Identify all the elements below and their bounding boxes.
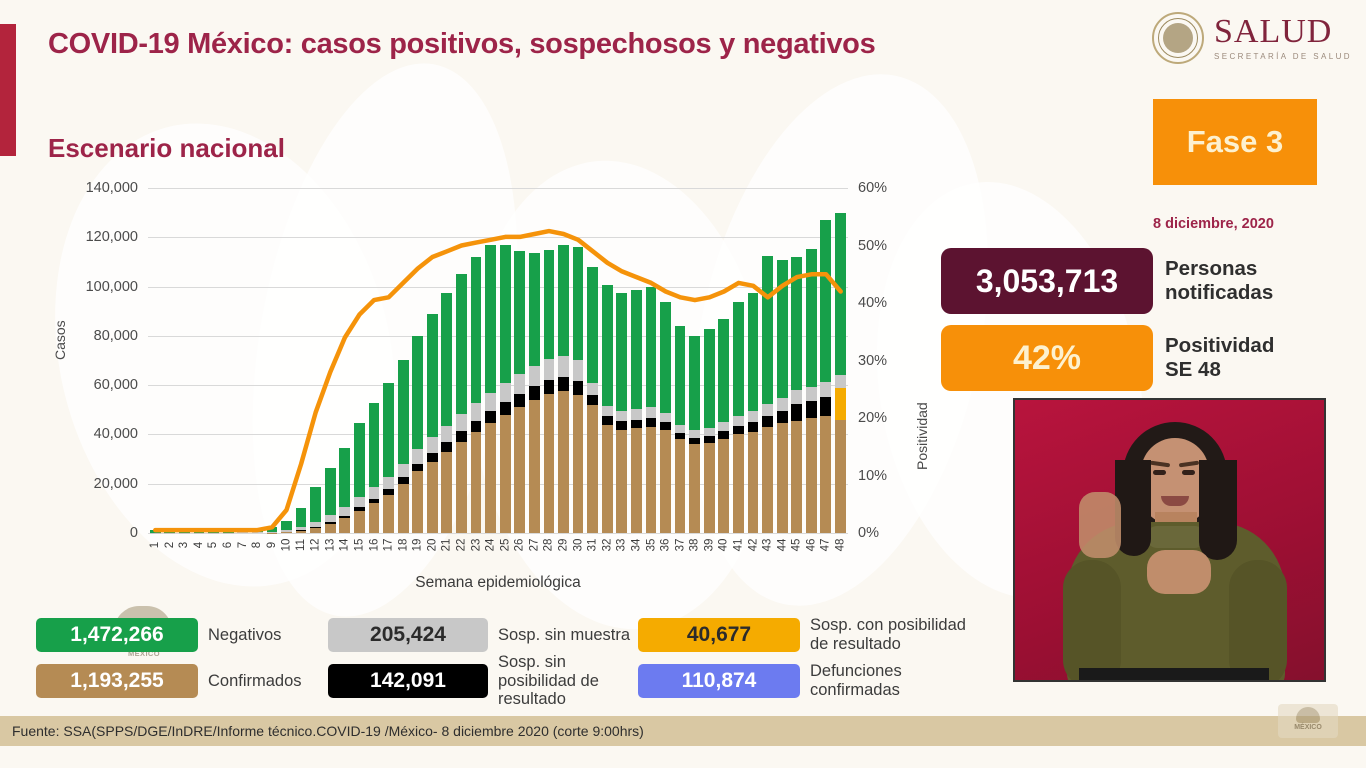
stacked-bar <box>354 423 365 533</box>
bar-segment-sinpos <box>762 416 773 427</box>
bar-segment-sinmuestra <box>675 425 686 433</box>
y2-tick-label: 30% <box>858 353 887 369</box>
plot-area: 020,00040,00060,00080,000100,000120,0001… <box>148 188 848 533</box>
bar-segment-confirmados <box>544 394 555 533</box>
bar-segment-confirmados <box>339 518 350 533</box>
bar-column: 45 <box>789 188 804 533</box>
y2-tick-label: 20% <box>858 410 887 426</box>
stat-pill: 3,053,713 <box>941 248 1153 314</box>
bar-segment-confirmados <box>296 531 307 533</box>
stacked-bar <box>500 245 511 533</box>
bar-column: 17 <box>381 188 396 533</box>
bar-segment-sinmuestra <box>762 404 773 416</box>
bar-column: 48 <box>833 188 848 533</box>
legend-label: Confirmados <box>202 672 324 691</box>
bar-segment-confirmados <box>646 427 657 533</box>
bar-segment-sinmuestra <box>573 360 584 381</box>
x-tick-label: 2 <box>164 542 176 548</box>
x-tick-label: 30 <box>572 539 584 552</box>
salud-logo: SALUD SECRETARÍA DE SALUD <box>1152 12 1352 64</box>
y-tick-label: 20,000 <box>94 476 138 492</box>
bar-column: 47 <box>819 188 834 533</box>
bar-segment-sinmuestra <box>514 374 525 394</box>
bar-column: 11 <box>294 188 309 533</box>
gob-mx-watermark-badge: MÉXICO <box>1278 704 1338 738</box>
stacked-bar <box>471 257 482 533</box>
bar-segment-sinpos <box>456 431 467 442</box>
bar-segment-negativos <box>310 487 321 522</box>
y-axis-label-right: Positividad <box>914 402 930 470</box>
legend-chip: 40,677 <box>638 618 800 652</box>
bar-segment-negativos <box>689 336 700 430</box>
stacked-bar <box>820 220 831 533</box>
legend-chip: 142,091 <box>328 664 488 698</box>
bar-column: 30 <box>571 188 586 533</box>
bar-segment-negativos <box>369 403 380 487</box>
bar-segment-sinpos <box>500 402 511 415</box>
bar-segment-sinmuestra <box>529 366 540 386</box>
x-tick-label: 16 <box>368 539 380 552</box>
report-date: 8 diciembre, 2020 <box>1153 216 1353 232</box>
bar-segment-confirmados <box>748 432 759 533</box>
stacked-bar <box>223 529 234 533</box>
bar-segment-sinmuestra <box>718 422 729 431</box>
bar-segment-confirmados <box>704 443 715 533</box>
legend-label: Sosp. sin posibilidad de resultado <box>492 653 634 710</box>
bar-segment-sinmuestra <box>791 390 802 404</box>
stacked-bar <box>427 314 438 533</box>
x-tick-label: 21 <box>441 539 453 552</box>
x-tick-label: 15 <box>353 539 365 552</box>
legend-label: Sosp. sin muestra <box>492 626 634 645</box>
bar-segment-confirmados <box>820 416 831 533</box>
x-tick-label: 5 <box>208 542 220 548</box>
x-tick-label: 13 <box>324 539 336 552</box>
bar-segment-negativos <box>602 285 613 406</box>
bar-segment-sinpos <box>558 377 569 391</box>
y-tick-label: 40,000 <box>94 426 138 442</box>
bar-series-group: 1234567891011121314151617181920212223242… <box>148 188 848 533</box>
stacked-bar <box>835 213 846 533</box>
bar-column: 15 <box>352 188 367 533</box>
stat-value: 3,053,713 <box>976 263 1118 300</box>
bar-segment-negativos <box>616 293 627 411</box>
bar-segment-negativos <box>646 287 657 408</box>
bar-segment-sinpos <box>602 416 613 424</box>
bar-segment-sinpos <box>573 381 584 395</box>
y2-tick-label: 50% <box>858 238 887 254</box>
salud-subtitle: SECRETARÍA DE SALUD <box>1214 52 1352 61</box>
bar-segment-confirmados <box>689 444 700 533</box>
bar-column: 6 <box>221 188 236 533</box>
bar-segment-negativos <box>704 329 715 428</box>
bar-segment-sinpos <box>412 464 423 472</box>
bar-segment-sinmuestra <box>704 428 715 436</box>
bar-column: 14 <box>338 188 353 533</box>
bar-segment-sinpos <box>733 426 744 435</box>
bar-segment-sinmuestra <box>544 359 555 380</box>
bar-column: 21 <box>440 188 455 533</box>
x-tick-label: 34 <box>630 539 642 552</box>
bar-segment-sinmuestra <box>616 411 627 421</box>
bar-segment-negativos <box>383 383 394 477</box>
bar-segment-negativos <box>748 293 759 411</box>
bar-segment-negativos <box>514 251 525 374</box>
x-tick-label: 29 <box>557 539 569 552</box>
stacked-bar <box>412 336 423 533</box>
x-tick-label: 42 <box>747 539 759 552</box>
bar-segment-sinpos <box>748 422 759 432</box>
bar-segment-confirmados <box>806 418 817 533</box>
bar-segment-confirmados <box>456 442 467 533</box>
stacked-bar <box>748 293 759 533</box>
stacked-bar <box>456 274 467 533</box>
stacked-bar <box>208 529 219 533</box>
legend-label: Defunciones confirmadas <box>804 662 968 700</box>
bar-segment-sinpos <box>820 397 831 416</box>
bar-segment-sinpos <box>631 420 642 429</box>
x-tick-label: 38 <box>689 539 701 552</box>
stat-positividad: 42% Positividad SE 48 <box>941 325 1274 391</box>
bar-segment-confirmados <box>791 421 802 533</box>
x-tick-label: 22 <box>455 539 467 552</box>
bar-segment-negativos <box>296 508 307 528</box>
stacked-bar <box>296 508 307 533</box>
bar-column: 36 <box>658 188 673 533</box>
bar-column: 37 <box>673 188 688 533</box>
stacked-bar <box>558 245 569 533</box>
bar-segment-sinmuestra <box>441 426 452 442</box>
bar-column: 33 <box>615 188 630 533</box>
bar-segment-negativos <box>544 250 555 358</box>
salud-wordmark: SALUD <box>1214 15 1352 49</box>
bar-segment-sinpos <box>777 411 788 424</box>
bar-column: 32 <box>600 188 615 533</box>
bar-segment-confirmados <box>354 511 365 533</box>
stacked-bar <box>369 403 380 533</box>
x-tick-label: 12 <box>310 539 322 552</box>
bar-segment-sinpos <box>587 395 598 405</box>
bar-segment-sinpos <box>427 453 438 462</box>
bar-segment-sinmuestra <box>398 464 409 477</box>
bar-segment-sinmuestra <box>820 382 831 397</box>
bar-segment-negativos <box>325 468 336 515</box>
x-tick-label: 36 <box>660 539 672 552</box>
bar-segment-negativos <box>398 360 409 464</box>
bar-segment-confirmados <box>558 391 569 533</box>
bar-segment-confirmados <box>514 407 525 533</box>
stacked-bar <box>544 250 555 533</box>
bar-segment-confirmados <box>310 528 321 533</box>
bar-segment-confirmados <box>762 427 773 533</box>
stat-caption-line2: notificadas <box>1165 281 1273 305</box>
y-tick-label: 140,000 <box>86 180 138 196</box>
x-tick-label: 4 <box>193 542 205 548</box>
bar-segment-sinpos <box>471 421 482 432</box>
bar-segment-sinmuestra <box>631 409 642 420</box>
stacked-bar <box>252 528 263 533</box>
stat-caption: Personas notificadas <box>1165 257 1273 305</box>
bar-column: 13 <box>323 188 338 533</box>
bar-segment-negativos <box>441 293 452 426</box>
x-tick-label: 9 <box>266 542 278 548</box>
bar-segment-sinmuestra <box>427 437 438 452</box>
bar-segment-sinpos <box>616 421 627 429</box>
y2-tick-label: 0% <box>858 525 879 541</box>
bar-segment-negativos <box>339 448 350 507</box>
y-tick-label: 100,000 <box>86 279 138 295</box>
bar-column: 39 <box>702 188 717 533</box>
bar-segment-confirmados <box>529 400 540 533</box>
stacked-bar <box>398 360 409 533</box>
stacked-bar <box>179 529 190 533</box>
bar-segment-sinmuestra <box>777 398 788 411</box>
stat-caption-line1: Positividad <box>1165 334 1274 358</box>
stacked-bar <box>339 448 350 533</box>
bar-segment-sinmuestra <box>806 387 817 401</box>
stacked-bar <box>529 253 540 533</box>
mexico-eagle-seal-icon <box>1152 12 1204 64</box>
bar-segment-sinmuestra <box>733 416 744 426</box>
bar-segment-confirmados <box>660 430 671 534</box>
bar-segment-negativos <box>485 245 496 393</box>
x-tick-label: 27 <box>528 539 540 552</box>
bar-segment-negativos <box>558 245 569 356</box>
x-tick-label: 35 <box>645 539 657 552</box>
y-axis-label-left: Casos <box>52 320 68 360</box>
stacked-bar <box>616 293 627 534</box>
bar-segment-negativos <box>631 290 642 410</box>
y-tick-label: 60,000 <box>94 377 138 393</box>
x-tick-label: 28 <box>543 539 555 552</box>
stacked-bar <box>237 529 248 533</box>
bar-segment-confirmados <box>427 462 438 533</box>
bar-column: 26 <box>512 188 527 533</box>
x-tick-label: 3 <box>178 542 190 548</box>
y-tick-label: 0 <box>130 525 138 541</box>
legend-chip: 110,874 <box>638 664 800 698</box>
bar-column: 29 <box>556 188 571 533</box>
stacked-bar <box>514 251 525 533</box>
bar-segment-sinpos <box>718 431 729 439</box>
x-tick-label: 18 <box>397 539 409 552</box>
stacked-bar <box>704 329 715 533</box>
chart-legend: 1,472,266Negativos205,424Sosp. sin muest… <box>36 616 996 700</box>
stacked-bar <box>587 267 598 533</box>
page-title: COVID-19 México: casos positivos, sospec… <box>48 28 875 61</box>
phase-badge: Fase 3 <box>1153 99 1317 185</box>
bar-segment-sinmuestra <box>602 406 613 417</box>
covid-stacked-bar-chart: Casos Positividad 020,00040,00060,00080,… <box>0 170 960 600</box>
bar-column: 9 <box>265 188 280 533</box>
bar-column: 42 <box>746 188 761 533</box>
bar-segment-confirmados <box>398 484 409 533</box>
bar-segment-sinmuestra <box>339 507 350 516</box>
x-axis-label: Semana epidemiológica <box>148 574 848 592</box>
stacked-bar <box>733 302 744 533</box>
stacked-bar <box>777 260 788 533</box>
bar-segment-confirmados <box>587 405 598 533</box>
bar-column: 38 <box>687 188 702 533</box>
phase-label: Fase 3 <box>1187 124 1284 160</box>
bar-segment-confirmados <box>616 430 627 534</box>
x-tick-label: 39 <box>703 539 715 552</box>
x-tick-label: 45 <box>791 539 803 552</box>
x-tick-label: 43 <box>762 539 774 552</box>
bar-segment-sinmuestra <box>456 414 467 431</box>
bar-segment-sinmuestra <box>471 403 482 421</box>
bar-segment-sinpos <box>791 404 802 421</box>
bar-segment-sinmuestra <box>412 449 423 463</box>
bar-segment-confirmados <box>602 425 613 533</box>
bar-segment-confirmados <box>369 503 380 533</box>
bar-column: 35 <box>644 188 659 533</box>
stacked-bar <box>689 336 700 533</box>
stat-pill: 42% <box>941 325 1153 391</box>
bar-segment-negativos <box>529 253 540 366</box>
bar-column: 28 <box>542 188 557 533</box>
stat-value: 42% <box>1013 339 1081 378</box>
bar-segment-negativos <box>354 423 365 497</box>
bar-segment-confirmados <box>412 471 423 533</box>
bar-segment-sinmuestra <box>835 375 846 387</box>
bar-column: 46 <box>804 188 819 533</box>
y-tick-label: 120,000 <box>86 229 138 245</box>
bar-segment-negativos <box>762 256 773 404</box>
bar-segment-sinpos <box>485 411 496 423</box>
bar-segment-sinmuestra <box>646 407 657 418</box>
y-tick-label: 80,000 <box>94 328 138 344</box>
bar-segment-confirmados <box>383 495 394 533</box>
bar-segment-sinmuestra <box>252 532 263 533</box>
stacked-bar <box>806 249 817 533</box>
stacked-bar <box>281 521 292 533</box>
stacked-bar <box>194 528 205 533</box>
legend-label: Sosp. con posibilidad de resultado <box>804 616 968 654</box>
bar-segment-confirmados <box>631 428 642 533</box>
bar-column: 3 <box>177 188 192 533</box>
bar-segment-sinmuestra <box>660 413 671 422</box>
y2-tick-label: 60% <box>858 180 887 196</box>
bar-column: 23 <box>469 188 484 533</box>
slide-root: COVID-19 México: casos positivos, sospec… <box>0 0 1366 768</box>
x-tick-label: 46 <box>805 539 817 552</box>
stacked-bar <box>573 247 584 533</box>
bar-segment-confirmados <box>573 395 584 533</box>
bar-segment-negativos <box>835 213 846 376</box>
x-tick-label: 10 <box>280 539 292 552</box>
legend-chip: 205,424 <box>328 618 488 652</box>
stacked-bar <box>646 287 657 533</box>
stacked-bar <box>383 383 394 533</box>
bar-column: 19 <box>410 188 425 533</box>
bar-segment-sinpos <box>441 442 452 452</box>
bar-segment-sinpos <box>529 386 540 400</box>
bar-segment-sinpos <box>544 380 555 394</box>
bar-segment-negativos <box>412 336 423 449</box>
x-tick-label: 8 <box>251 542 263 548</box>
stacked-bar <box>310 487 321 533</box>
x-tick-label: 6 <box>222 542 234 548</box>
gridline <box>148 533 848 534</box>
bar-column: 10 <box>279 188 294 533</box>
stacked-bar <box>762 256 773 533</box>
stacked-bar <box>325 468 336 533</box>
bar-segment-sinpos <box>398 477 409 484</box>
bar-column: 25 <box>498 188 513 533</box>
bar-segment-confirmados <box>325 524 336 533</box>
stacked-bar <box>791 257 802 533</box>
x-tick-label: 20 <box>426 539 438 552</box>
bar-segment-confirmados <box>500 415 511 533</box>
bar-segment-confirmados <box>675 439 686 533</box>
bar-segment-negativos <box>777 260 788 398</box>
x-tick-label: 31 <box>587 539 599 552</box>
stacked-bar <box>675 326 686 533</box>
bar-segment-sinpos <box>646 418 657 427</box>
bar-segment-negativos <box>281 521 292 531</box>
x-tick-label: 19 <box>412 539 424 552</box>
stacked-bar <box>718 319 729 533</box>
sign-language-interpreter-video <box>1013 398 1326 682</box>
stacked-bar <box>150 530 161 533</box>
bar-column: 5 <box>206 188 221 533</box>
stacked-bar <box>164 530 175 533</box>
bar-segment-negativos <box>427 314 438 437</box>
bar-column: 7 <box>235 188 250 533</box>
bar-segment-confirmados <box>718 439 729 533</box>
x-tick-label: 25 <box>499 539 511 552</box>
bar-column: 1 <box>148 188 163 533</box>
bar-segment-sinpos <box>514 394 525 407</box>
bar-segment-negativos <box>675 326 686 425</box>
x-tick-label: 33 <box>616 539 628 552</box>
stacked-bar <box>660 302 671 533</box>
stat-caption: Positividad SE 48 <box>1165 334 1274 382</box>
stacked-bar <box>602 285 613 533</box>
x-tick-label: 14 <box>339 539 351 552</box>
bar-segment-negativos <box>718 319 729 423</box>
x-tick-label: 11 <box>295 539 307 551</box>
bar-column: 34 <box>629 188 644 533</box>
x-tick-label: 23 <box>470 539 482 552</box>
x-tick-label: 41 <box>732 539 744 552</box>
bar-segment-sinmuestra <box>587 383 598 395</box>
bar-column: 44 <box>775 188 790 533</box>
bar-segment-sinmuestra <box>237 532 248 533</box>
bar-segment-confirmados <box>835 420 846 533</box>
x-tick-label: 37 <box>674 539 686 552</box>
bar-segment-negativos <box>456 274 467 414</box>
bar-segment-negativos <box>573 247 584 360</box>
bar-column: 41 <box>731 188 746 533</box>
x-tick-label: 24 <box>485 539 497 552</box>
x-tick-label: 47 <box>820 539 832 552</box>
bar-segment-confirmados <box>777 423 788 533</box>
source-text: Fuente: SSA(SPPS/DGE/InDRE/Informe técni… <box>0 723 644 739</box>
y2-tick-label: 10% <box>858 468 887 484</box>
bar-column: 40 <box>717 188 732 533</box>
bar-segment-sinmuestra <box>558 356 569 377</box>
bar-column: 22 <box>454 188 469 533</box>
x-tick-label: 7 <box>237 542 249 548</box>
stacked-bar <box>485 245 496 533</box>
bar-column: 27 <box>527 188 542 533</box>
bar-column: 16 <box>367 188 382 533</box>
bar-segment-sinpos <box>806 401 817 418</box>
bar-segment-sinmuestra <box>500 383 511 402</box>
bar-column: 43 <box>760 188 775 533</box>
